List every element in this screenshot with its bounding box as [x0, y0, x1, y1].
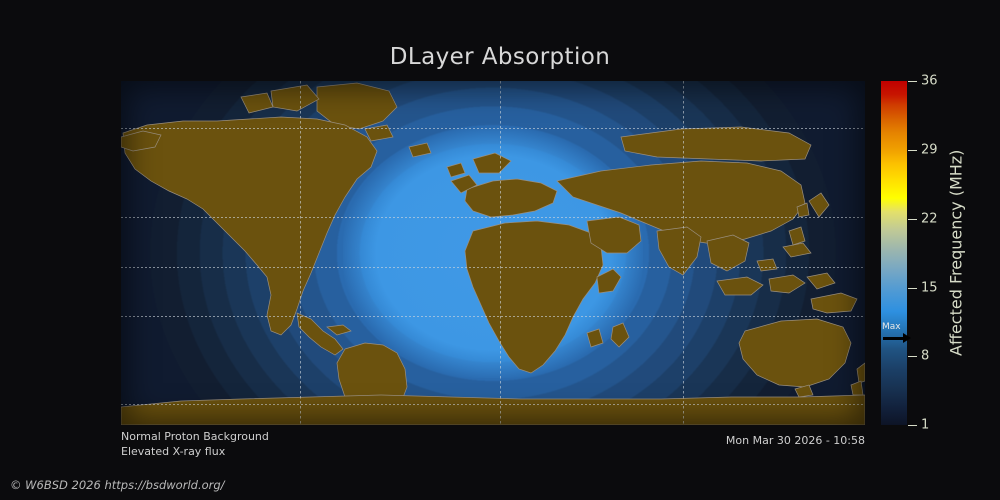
colorbar-tick-label: 29 [921, 143, 938, 158]
graticule-lon-line [683, 81, 684, 425]
continents-layer [121, 81, 865, 425]
graticule-lat-line [121, 267, 865, 268]
status-proton-background: Normal Proton Background [121, 429, 269, 444]
graticule-lon-line [300, 81, 301, 425]
colorbar-tick [908, 425, 917, 426]
world-map[interactable] [121, 81, 865, 425]
colorbar-tick-label: 8 [921, 349, 929, 364]
colorbar-tick-label: 22 [921, 212, 938, 227]
right-arrow-icon-head [903, 333, 911, 343]
graticule-lat-line [121, 217, 865, 218]
colorbar-tick-label: 15 [921, 281, 938, 296]
credit-line: © W6BSD 2026 https://bsdworld.org/ [10, 478, 225, 492]
colorbar-axis-title: Affected Frequency (MHz) [944, 81, 968, 425]
graticule-lon-line [500, 81, 501, 425]
colorbar-gradient [881, 81, 907, 425]
colorbar-tick-label: 36 [921, 74, 938, 89]
colorbar-max-marker: Max [882, 322, 922, 348]
timestamp: Mon Mar 30 2026 - 10:58 [726, 434, 865, 447]
colorbar-tick [908, 81, 917, 82]
right-arrow-icon [883, 337, 905, 340]
colorbar-tick [908, 219, 917, 220]
colorbar-tick [908, 288, 917, 289]
page-title: DLayer Absorption [0, 44, 1000, 70]
colorbar-tick [908, 356, 917, 357]
colorbar-tick-label: 1 [921, 418, 929, 433]
status-block: Normal Proton Background Elevated X-ray … [121, 429, 269, 459]
graticule-lat-line [121, 316, 865, 317]
status-xray-flux: Elevated X-ray flux [121, 444, 269, 459]
graticule-lat-line [121, 128, 865, 129]
max-marker-label: Max [882, 322, 901, 332]
colorbar-tick [908, 150, 917, 151]
graticule-lat-line [121, 404, 865, 405]
dlayer-absorption-map-view: DLayer Absorption [0, 0, 1000, 500]
